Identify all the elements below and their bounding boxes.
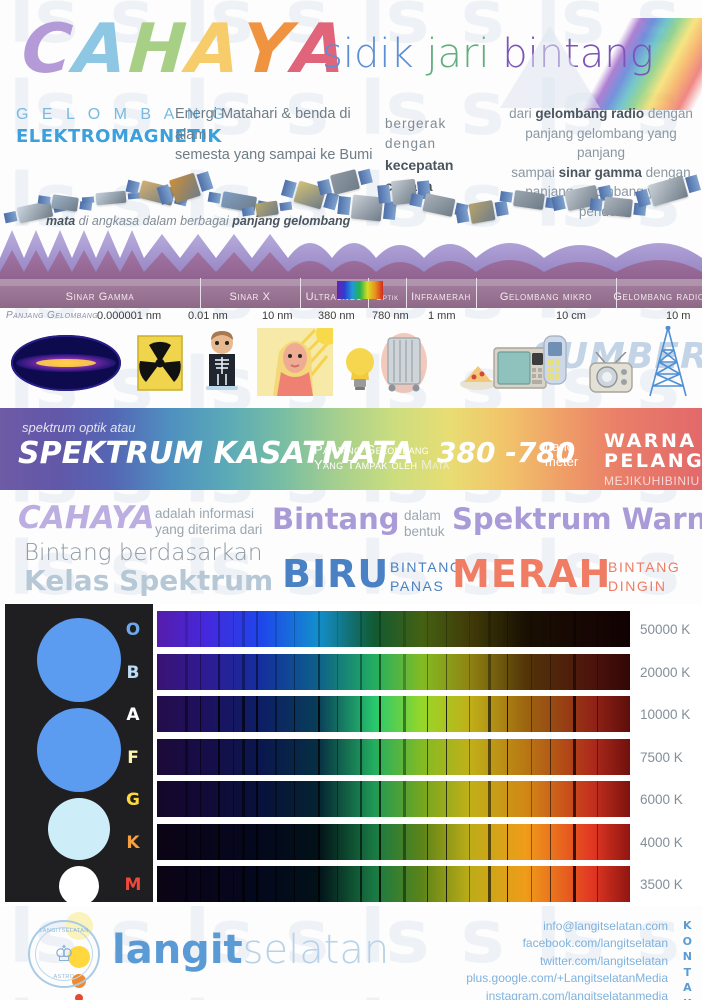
solar-panel [4, 211, 18, 223]
temperature-label-B: 20000 K [640, 665, 690, 680]
light-bulb-icon [342, 344, 378, 392]
prism-icon [500, 26, 600, 108]
contact-link-4[interactable]: plus.google.com/+LangitselatanMedia [466, 970, 668, 987]
stmt-spektrum-warna: Spektrum Warna [452, 502, 702, 536]
footer: LANGITSELATAN ASTRO ♔ langitselatan info… [0, 906, 702, 1000]
absorption-lines [157, 696, 630, 732]
uv-sunbathing-icon [257, 328, 333, 396]
langitselatan-seal-logo: LANGITSELATAN ASTRO ♔ [28, 920, 100, 988]
text-dari-line1: dari gelombang radio dengan [508, 104, 694, 124]
contact-list[interactable]: info@langitselatan.comfacebook.com/langi… [466, 918, 668, 1000]
brand-selatan: selatan [243, 927, 390, 973]
solar-panel [317, 179, 332, 195]
satellite-icon-17 [648, 175, 689, 206]
star-size-circle-4 [59, 866, 99, 906]
brand-wordmark: langitselatan [112, 930, 389, 970]
solar-panel [358, 169, 373, 185]
em-band-sinar-x: Sinar X [200, 286, 300, 308]
title-letter-a: A [72, 16, 131, 84]
stmt-bintang: Bintang [272, 502, 400, 536]
stmt-dalam: dalam bentuk [404, 508, 445, 540]
solar-panel [208, 192, 222, 204]
text-dari-1a: dari [509, 106, 535, 121]
absorption-lines [157, 739, 630, 775]
mobile-phone-icon [540, 334, 570, 386]
stmt-dalam-1: dalam [404, 508, 445, 524]
stmt-adalah: adalah informasi yang diterima dari [155, 506, 262, 538]
stmt-bintang-dingin-1: BINTANG [608, 558, 680, 577]
contact-link-5[interactable]: instagram.com/langitselatanmedia [466, 988, 668, 1000]
spectrum-strip-K [157, 823, 630, 861]
satellite-icon-13 [468, 200, 495, 224]
text-bergerak-line1: bergerak dengan [385, 114, 500, 155]
solar-panel [377, 185, 391, 204]
vb-warna-1: WARNA [604, 432, 702, 452]
solar-panel [281, 180, 297, 199]
absorption-lines [157, 824, 630, 860]
spectral-class-letter-O: O [118, 620, 148, 640]
source-icon-row [0, 326, 702, 404]
temperature-label-O: 50000 K [640, 622, 690, 637]
wavelength-label-001nm: 0.01 nm [188, 310, 228, 322]
page-subtitle: sidik jari bintang [322, 34, 654, 74]
kontak-letter-5: A [683, 980, 692, 996]
radio-tower-icon [642, 326, 694, 398]
visible-band-kicker: spektrum optik atau [22, 420, 135, 435]
infrared-heater-icon [380, 332, 428, 394]
solar-panel [82, 196, 94, 203]
text-dari-1b: gelombang radio [535, 106, 644, 121]
stmt-kelas-spektrum: Kelas Spektrum [24, 564, 273, 597]
spectral-class-letter-A: A [118, 705, 148, 725]
tv-set-icon [586, 352, 638, 394]
em-band-sinar-gamma: Sinar Gamma [0, 286, 200, 308]
kontak-letter-6: K [683, 996, 692, 1000]
wavelength-row: Panjang Gelombang 0.000001 nm0.01 nm10 n… [0, 310, 702, 326]
spectral-class-letter-K: K [118, 833, 148, 853]
text-dari-line2: panjang gelombang yang panjang [508, 124, 694, 163]
horse-icon: ♔ [54, 943, 74, 965]
solar-panel [685, 174, 701, 193]
satellite-icon-5 [169, 173, 201, 204]
spectral-class-letter-G: G [118, 790, 148, 810]
title-letter-a: A [185, 16, 244, 84]
infographic-page: lsslsslsslsslsslsslsslsslsslsslsslsslssl… [0, 0, 702, 1000]
microwave-oven-icon [460, 344, 548, 392]
satellite-icon-9 [330, 169, 360, 195]
spectrum-strip-G [157, 780, 630, 818]
em-band-divider-2 [300, 278, 301, 308]
stmt-merah: MERAH [452, 552, 611, 596]
stmt-cahaya: CAHAYA [18, 500, 155, 536]
optic-spectrum-swatch [337, 281, 383, 299]
satellite-caption: mata di angkasa dalam berbagai panjang g… [46, 214, 350, 228]
kontak-letter-2: O [683, 934, 692, 950]
satellite-caption-rest: di angkasa dalam berbagai [75, 214, 232, 228]
wavelength-label-0000001nm: 0.000001 nm [97, 310, 161, 322]
satellite-icon-3 [96, 191, 127, 206]
stmt-bintang-berdasarkan: Bintang berdasarkan [24, 540, 262, 566]
solar-panel [590, 198, 603, 211]
wavelength-label-1mm: 1 mm [428, 310, 456, 322]
spectral-class-letter-F: F [118, 748, 148, 768]
stmt-dalam-2: bentuk [404, 524, 445, 540]
em-band-gelombang-radio: Gelombang radio [616, 286, 702, 308]
temperature-label-K: 4000 K [640, 835, 683, 850]
temperature-label-F: 7500 K [640, 750, 683, 765]
contact-link-3[interactable]: twitter.com/langitselatan [466, 953, 668, 970]
solar-panel [38, 195, 51, 205]
solar-panel [500, 191, 513, 203]
vb-warna-2: PELANGI [604, 452, 702, 472]
vb-pj-line2: Yang Tampak oleh Mata [314, 457, 449, 472]
stmt-bintang-dingin-2: DINGIN [608, 577, 680, 596]
absorption-lines [157, 611, 630, 647]
satellite-icon-14 [513, 190, 545, 210]
stmt-adalah-2: yang diterima dari [155, 522, 262, 538]
visible-band-warna: WARNA PELANGI [604, 432, 702, 472]
vb-unit-1: nano [545, 440, 578, 455]
wavelength-label-380nm: 380 nm [318, 310, 355, 322]
solar-panel [196, 171, 213, 192]
vb-unit-2: meter [545, 455, 578, 470]
contact-link-2[interactable]: facebook.com/langitselatan [466, 935, 668, 952]
kontak-letter-1: K [683, 918, 692, 934]
wavelength-label-10m: 10 m [666, 310, 690, 322]
seal-text-top: LANGITSELATAN [39, 928, 88, 934]
page-title: CAHAYA [22, 16, 348, 84]
xray-child-icon [198, 330, 246, 394]
subtitle-word-sidik: sidik [322, 31, 426, 77]
kontak-letter-4: T [683, 965, 692, 981]
seal-text-bottom: ASTRO [54, 974, 75, 980]
em-band-gelombang-mikro: Gelombang mikro [476, 286, 616, 308]
wavelength-label-780nm: 780 nm [372, 310, 409, 322]
title-letter-c: C [20, 16, 77, 84]
solar-panel [495, 201, 509, 217]
stellar-spectra-chart: O50000 KB20000 KA10000 KF7500 KG6000 KK4… [0, 604, 702, 906]
em-band-divider-1 [200, 278, 201, 308]
visible-band-unit: nano meter [545, 440, 578, 470]
galaxy-gamma-map-icon [10, 334, 122, 392]
temperature-label-M: 3500 K [640, 877, 683, 892]
spectrum-strip-F [157, 738, 630, 776]
solar-panel [279, 202, 292, 212]
solar-panel [409, 193, 423, 207]
vb-pj-line1: Panjang Gelombang [314, 442, 449, 457]
spectrum-strip-B [157, 653, 630, 691]
star-size-circle-3 [48, 798, 110, 860]
satellite-icon-16 [603, 197, 633, 218]
spectrum-strip-M [157, 865, 630, 903]
satellite-caption-bold: mata [46, 214, 75, 228]
spectrum-strip-O [157, 610, 630, 648]
kontak-letter-3: N [683, 949, 692, 965]
spectrum-strip-A [157, 695, 630, 733]
satellite-caption-bold2: panjang gelombang [232, 214, 350, 228]
statement-block: CAHAYA adalah informasi yang diterima da… [0, 496, 702, 600]
em-band-divider-6 [616, 278, 617, 308]
visible-band-mnemonic: MEJIKUHIBINIU [604, 474, 700, 488]
star-size-circle-2 [37, 708, 121, 792]
intro-columns: G E L O M B A N G ELEKTROMAGNETIK Energi… [0, 104, 702, 166]
star-size-circle-1 [37, 618, 121, 702]
temperature-label-G: 6000 K [640, 792, 683, 807]
solar-panel [455, 208, 469, 224]
em-band-divider-5 [476, 278, 477, 308]
contact-link-1[interactable]: info@langitselatan.com [466, 918, 668, 935]
visible-spectrum-banner: spektrum optik atau SPEKTRUM KASATMATA P… [0, 408, 702, 490]
absorption-lines [157, 781, 630, 817]
wavelength-title: Panjang Gelombang [6, 310, 98, 321]
solar-panel [551, 195, 566, 211]
wavelength-label-10cm: 10 cm [556, 310, 586, 322]
vb-pj-1b: Gelombang [365, 442, 429, 457]
subtitle-word-jari: jari [426, 31, 502, 77]
satellite-icon-12 [422, 193, 455, 217]
text-energi: Energi Matahari & benda di alam semesta … [175, 104, 375, 166]
wave-illustration [0, 224, 702, 286]
solar-panel [323, 192, 339, 211]
em-band-inframerah: Inframerah [406, 286, 476, 308]
solar-panel [337, 196, 351, 215]
absorption-lines [157, 866, 630, 902]
title-letter-y: Y [240, 16, 296, 84]
visible-band-wavelength-caption: Panjang Gelombang Yang Tampak oleh Mata [314, 442, 449, 473]
text-dari-1c: dengan [644, 106, 693, 121]
brand-langit: langit [112, 927, 243, 973]
spectral-class-letter-M: M [118, 875, 148, 895]
kontak-vertical-label: KONTAK [683, 918, 692, 1000]
wavelength-label-10nm: 10 nm [262, 310, 293, 322]
vb-pj-1a: Panjang [314, 442, 365, 457]
temperature-label-A: 10000 K [640, 707, 690, 722]
vb-pj-2a: Yang Tampak oleh [314, 457, 421, 472]
em-band-divider-4 [406, 278, 407, 308]
radiation-hazard-icon [137, 335, 183, 391]
text-energi-line1: Energi Matahari & benda di alam [175, 104, 375, 145]
header: CAHAYA sidik jari bintang [0, 0, 702, 100]
stmt-adalah-1: adalah informasi [155, 506, 262, 522]
spectral-class-letter-B: B [118, 663, 148, 683]
stmt-bintang-dingin: BINTANG DINGIN [608, 558, 680, 596]
stmt-biru: BIRU [282, 552, 389, 596]
absorption-lines [157, 654, 630, 690]
text-energi-line2: semesta yang sampai ke Bumi [175, 145, 375, 166]
title-letter-h: H [126, 16, 190, 84]
